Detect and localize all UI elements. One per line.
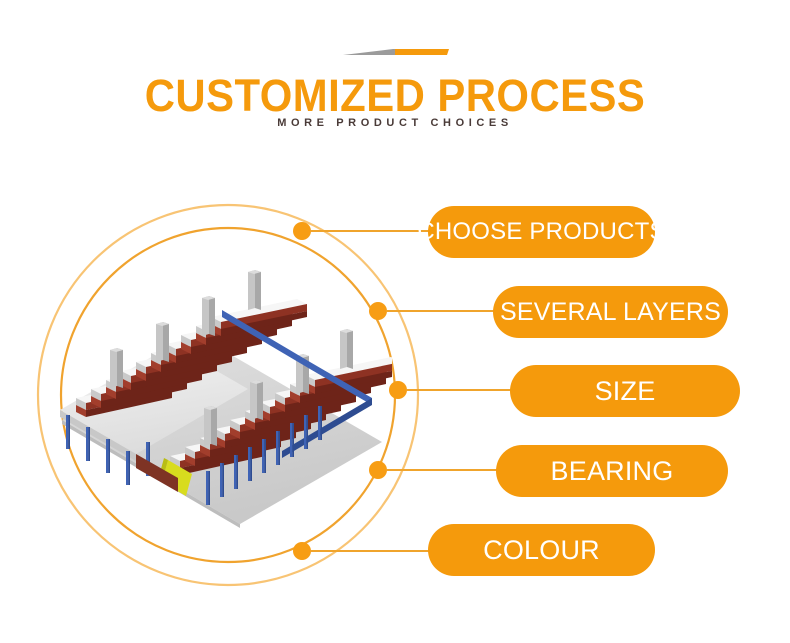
- step-button-size[interactable]: SIZE: [510, 365, 740, 417]
- infographic-page: CUSTOMIZED PROCESS MORE PRODUCT CHOICES: [0, 0, 790, 643]
- connector-dot-2: [369, 302, 387, 320]
- step-label-4: BEARING: [551, 456, 674, 487]
- connector-line-4: [387, 469, 503, 471]
- page-title: CUSTOMIZED PROCESS: [28, 70, 763, 122]
- step-label-1: CHOOSE PRODUCTS: [417, 218, 665, 246]
- connector-line-2: [387, 310, 500, 312]
- step-label-5: COLOUR: [483, 535, 600, 566]
- step-button-colour[interactable]: COLOUR: [428, 524, 655, 576]
- step-button-choose-products[interactable]: CHOOSE PRODUCTS: [428, 206, 655, 258]
- process-diagram: CHOOSE PRODUCTS SEVERAL LAYERS SIZE BEAR…: [0, 150, 790, 643]
- connector-dot-1: [293, 222, 311, 240]
- connector-line-5: [311, 550, 436, 552]
- step-label-3: SIZE: [595, 376, 656, 407]
- connector-dot-3: [389, 381, 407, 399]
- connector-dot-5: [293, 542, 311, 560]
- page-subtitle: MORE PRODUCT CHOICES: [0, 117, 790, 129]
- product-illustration: [52, 270, 392, 530]
- step-button-several-layers[interactable]: SEVERAL LAYERS: [493, 286, 728, 338]
- accent-rule-icon: [339, 48, 451, 56]
- page-header: CUSTOMIZED PROCESS MORE PRODUCT CHOICES: [0, 0, 790, 150]
- connector-line-3: [407, 389, 517, 391]
- connector-dot-4: [369, 461, 387, 479]
- step-label-2: SEVERAL LAYERS: [500, 298, 721, 327]
- step-button-bearing[interactable]: BEARING: [496, 445, 728, 497]
